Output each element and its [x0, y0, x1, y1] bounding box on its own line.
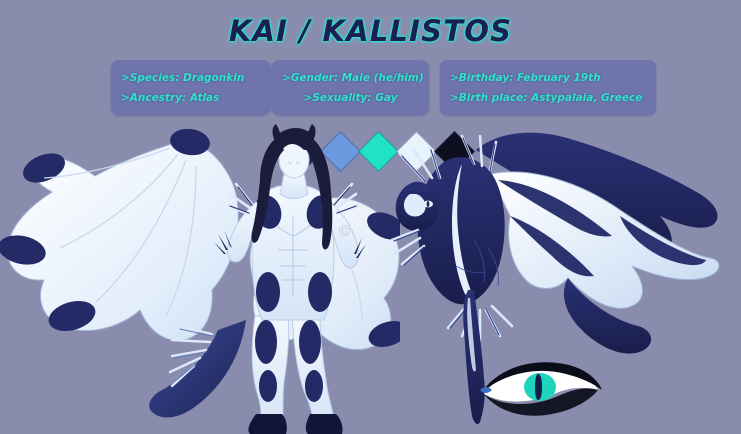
info-line-sexuality: >Sexuality: Gay: [282, 88, 419, 108]
swatch-dark-navy: [282, 131, 323, 172]
swatch-black: [434, 131, 475, 172]
eye-detail-artwork: [478, 358, 602, 420]
watermark-left: ©: [337, 222, 354, 240]
watermark-right: ©: [424, 224, 441, 242]
right-wing: [250, 197, 400, 352]
info-box-gender: >Gender: Male (he/him) >Sexuality: Gay: [272, 60, 429, 115]
swatch-turquoise: [358, 131, 399, 172]
color-palette: [288, 131, 473, 173]
info-line-ancestry: >Ancestry: Atlas: [121, 88, 261, 108]
tail: [149, 320, 246, 417]
info-box-origin: >Birthday: February 19th >Birth place: A…: [440, 60, 656, 115]
left-wing: [0, 126, 238, 340]
page-title: KAI / KALLISTOS: [0, 14, 741, 48]
info-box-identity: >Species: Dragonkin >Ancestry: Atlas: [111, 60, 271, 115]
swatch-blue: [320, 131, 361, 172]
info-line-birthday: >Birthday: February 19th: [450, 68, 646, 88]
character-reference-sheet: KAI / KALLISTOS >Species: Dragonkin >Anc…: [0, 0, 741, 434]
info-line-birthplace: >Birth place: Astypalaia, Greece: [450, 88, 646, 108]
info-line-gender: >Gender: Male (he/him): [282, 68, 419, 88]
swatch-white: [396, 131, 437, 172]
info-line-species: >Species: Dragonkin: [121, 68, 261, 88]
